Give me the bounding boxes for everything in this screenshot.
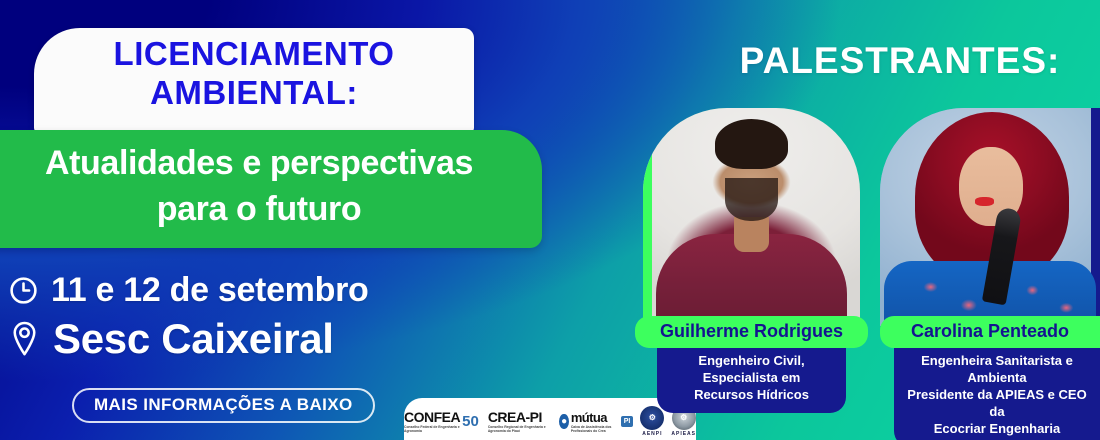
- logo-aenpi-name: AENPI: [642, 431, 662, 437]
- gear-icon: ⚙: [640, 406, 664, 430]
- event-date-row: 11 e 12 de setembro: [8, 268, 478, 312]
- speaker-role-1: Engenheiro Civil, Especialista em Recurs…: [657, 342, 846, 413]
- logo-aenpi: ⚙ AENPI: [640, 406, 664, 437]
- event-info: 11 e 12 de setembro Sesc Caixeiral: [8, 268, 478, 366]
- map-pin-icon: [8, 320, 41, 358]
- event-subtitle-line2: para o futuro: [0, 186, 528, 232]
- logo-confea-name: CONFEA: [404, 409, 460, 425]
- speaker-role-2-line1: Engenheira Sanitarista e Ambienta: [900, 352, 1094, 386]
- speaker-portrait-2: [880, 108, 1100, 326]
- portrait-lips: [975, 197, 995, 206]
- speaker-role-2: Engenheira Sanitarista e Ambienta Presid…: [894, 342, 1100, 440]
- event-subtitle-line1: Atualidades e perspectivas: [0, 140, 528, 186]
- sponsor-logo-strip: CONFEA Conselho Federal de Engenharia e …: [404, 398, 696, 440]
- event-title: LICENCIAMENTO AMBIENTAL:: [34, 34, 474, 112]
- event-subtitle: Atualidades e perspectivas para o futuro: [0, 140, 528, 232]
- speaker-name-1: Guilherme Rodrigues: [635, 316, 868, 348]
- speaker-role-1-line1: Engenheiro Civil, Especialista em: [663, 352, 840, 386]
- speakers-heading: PALESTRANTES:: [700, 40, 1100, 82]
- speaker-role-2-line3: Ecocriar Engenharia: [900, 420, 1094, 437]
- logo-mutua-name: mútua: [571, 410, 607, 425]
- mutua-mark-icon: ●: [559, 414, 568, 429]
- speaker-role-1-line2: Recursos Hídricos: [663, 386, 840, 403]
- event-title-line2: AMBIENTAL:: [34, 73, 474, 112]
- speaker-card-1: Guilherme Rodrigues Engenheiro Civil, Es…: [643, 108, 860, 413]
- portrait-beard: [725, 178, 777, 222]
- logo-confea-50-badge: 50: [462, 413, 479, 430]
- speaker-name-2: Carolina Penteado: [880, 316, 1100, 348]
- event-banner: LICENCIAMENTO AMBIENTAL: Atualidades e p…: [0, 0, 1100, 440]
- logo-crea-name: CREA-PI: [488, 409, 542, 425]
- speaker-photo-2: [880, 108, 1100, 326]
- title-card-white: LICENCIAMENTO AMBIENTAL:: [34, 28, 474, 132]
- logo-crea-sub: Conselho Regional de Engenharia e Agrono…: [488, 425, 551, 433]
- logo-mutua: ● mútua Caixa de Assistência dos Profiss…: [557, 410, 633, 433]
- event-venue-row: Sesc Caixeiral: [8, 312, 478, 366]
- logo-confea: CONFEA Conselho Federal de Engenharia e …: [404, 409, 481, 433]
- logo-crea-pi: CREA-PI Conselho Regional de Engenharia …: [488, 409, 551, 433]
- logo-confea-sub: Conselho Federal de Engenharia e Agronom…: [404, 425, 460, 433]
- logo-apieas-name: APIEAS: [671, 431, 696, 437]
- portrait-hair: [715, 119, 789, 169]
- event-date-text: 11 e 12 de setembro: [51, 271, 368, 310]
- subtitle-card-green: Atualidades e perspectivas para o futuro: [0, 130, 542, 248]
- speaker-role-2-line2: Presidente da APIEAS e CEO da: [900, 386, 1094, 420]
- event-title-line1: LICENCIAMENTO: [34, 34, 474, 73]
- event-venue-text: Sesc Caixeiral: [53, 315, 334, 363]
- clock-icon: [8, 275, 39, 306]
- speaker-portrait-1: [643, 108, 860, 326]
- logo-mutua-pi-badge: PI: [621, 416, 634, 427]
- logo-mutua-sub: Caixa de Assistência dos Profissionais d…: [571, 425, 619, 433]
- more-info-pill[interactable]: MAIS INFORMAÇÕES A BAIXO: [72, 388, 375, 423]
- speaker-photo-1: [643, 108, 860, 326]
- speaker-card-2: Carolina Penteado Engenheira Sanitarista…: [880, 108, 1100, 440]
- accent-bar-green: [643, 108, 652, 326]
